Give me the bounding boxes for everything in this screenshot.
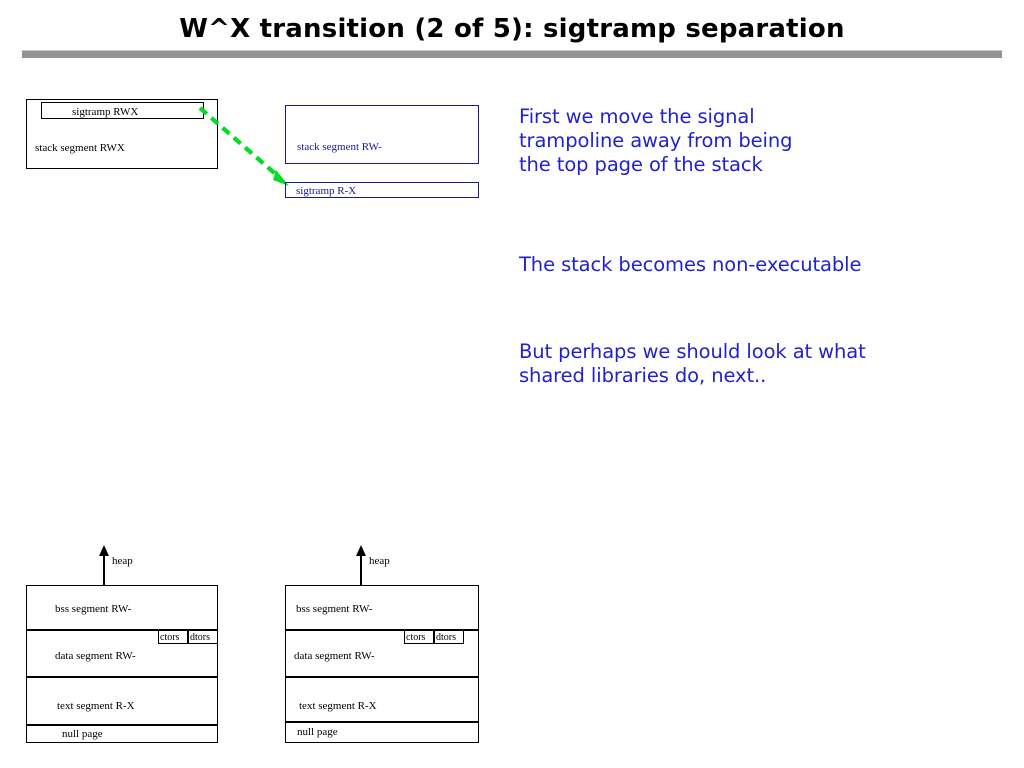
text-segment-label: text segment R-X [57,701,135,712]
page-title: W^X transition (2 of 5): sigtramp separa… [0,14,1024,44]
move-arrow-line [200,108,280,178]
heap-arrow-head-icon [99,545,109,556]
bullet-stack-nonexec: The stack becomes non-executable [519,253,861,277]
data-segment-label-2: data segment RW- [294,651,375,662]
ctors-label-2: ctors [406,633,425,643]
bss-segment-label: bss segment RW- [55,604,131,615]
heap-arrow-stem-2 [360,554,362,585]
null-page-box [26,725,218,743]
dtors-label-2: dtors [436,633,456,643]
heap-arrow-stem [103,554,105,585]
dtors-label: dtors [190,633,210,643]
heap-arrow-head-icon-2 [356,545,366,556]
bss-segment-label-2: bss segment RW- [296,604,372,615]
heap-label: heap [112,555,133,567]
title-divider [22,50,1002,58]
data-segment-label: data segment RW- [55,651,136,662]
stack-segment-rw-box [285,105,479,164]
bullet-shared-libraries: But perhaps we should look at what share… [519,340,866,388]
text-segment-label-2: text segment R-X [299,701,377,712]
null-page-label-2: null page [297,727,338,738]
sigtramp-rwx-label: sigtramp RWX [72,107,138,118]
ctors-label: ctors [160,633,179,643]
null-page-label: null page [62,729,103,740]
bullet-first-move: First we move the signal trampoline away… [519,105,792,177]
heap-label-2: heap [369,555,390,567]
stack-segment-rw-label: stack segment RW- [297,142,382,153]
sigtramp-rx-label: sigtramp R-X [296,186,356,197]
stack-segment-rwx-label: stack segment RWX [35,143,125,154]
